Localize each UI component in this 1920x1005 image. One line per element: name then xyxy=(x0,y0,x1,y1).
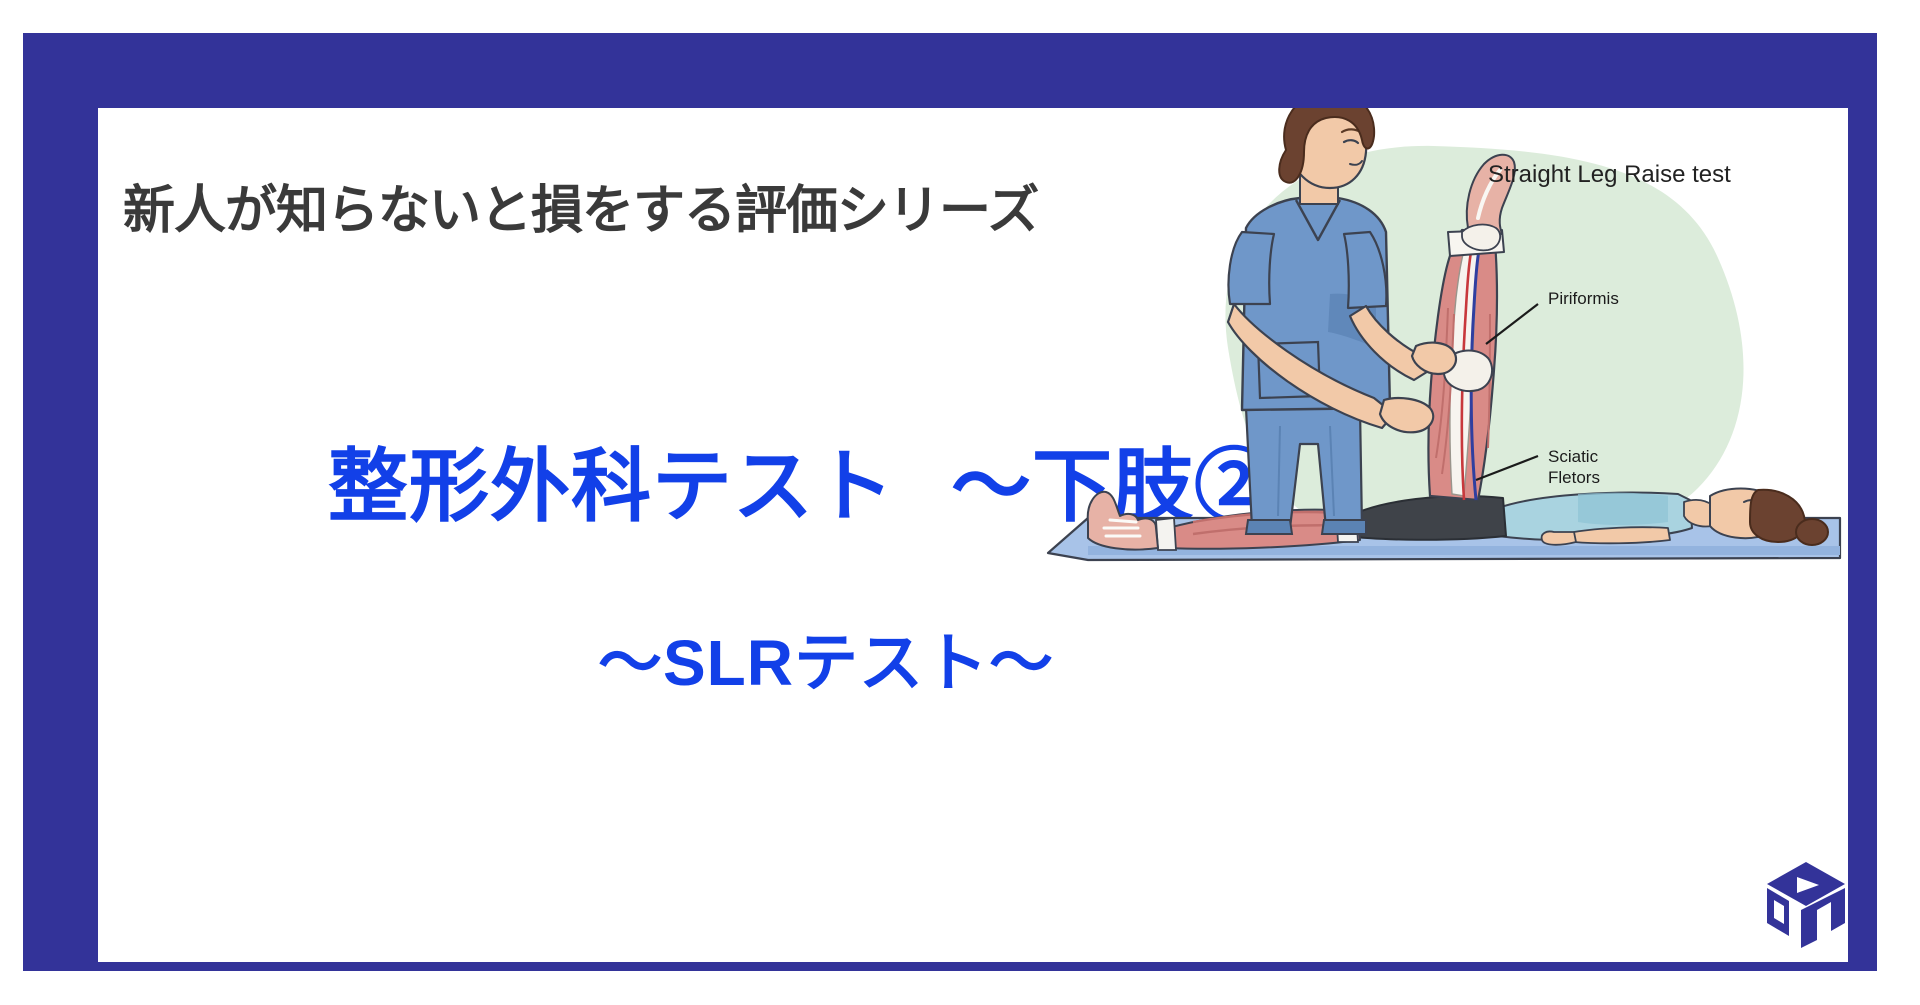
anatomy-label-sciatic-line2: Fletors xyxy=(1548,467,1600,488)
brand-logo xyxy=(1761,858,1848,948)
slide-canvas: 新人が知らないと損をする評価シリーズ 整形外科テスト〜下肢②〜 〜SLRテスト〜 xyxy=(0,0,1920,1005)
anatomy-label-sciatic-fletors: Sciatic Fletors xyxy=(1548,446,1600,489)
therapist-sleeve-left xyxy=(1229,232,1275,304)
patient-hand xyxy=(1542,531,1576,544)
patient-shirt-shade xyxy=(1578,493,1668,525)
leg-bandage-band-1 xyxy=(1156,518,1176,550)
page-subtitle: 〜SLRテスト〜 xyxy=(598,628,1054,698)
isometric-cube-play-icon xyxy=(1761,858,1848,948)
patient-arm xyxy=(1574,527,1670,543)
therapist-shoe-right xyxy=(1322,520,1366,534)
anatomy-label-sciatic-line1: Sciatic xyxy=(1548,446,1600,467)
slide-content-area: 新人が知らないと損をする評価シリーズ 整形外科テスト〜下肢②〜 〜SLRテスト〜 xyxy=(98,108,1848,962)
slide-border-frame: 新人が知らないと損をする評価シリーズ 整形外科テスト〜下肢②〜 〜SLRテスト〜 xyxy=(23,33,1877,971)
ankle-joint-bone xyxy=(1462,225,1500,251)
series-heading: 新人が知らないと損をする評価シリーズ xyxy=(123,183,1038,240)
patient-hair-bun xyxy=(1796,519,1828,545)
anatomy-label-piriformis: Piriformis xyxy=(1548,288,1619,309)
slr-illustration: Straight Leg Raise test Piriformis Sciat… xyxy=(978,108,1848,578)
illustration-caption: Straight Leg Raise test xyxy=(1488,161,1731,189)
main-title-part1: 整形外科テスト xyxy=(328,442,895,531)
therapist-shoe-left xyxy=(1246,520,1292,534)
